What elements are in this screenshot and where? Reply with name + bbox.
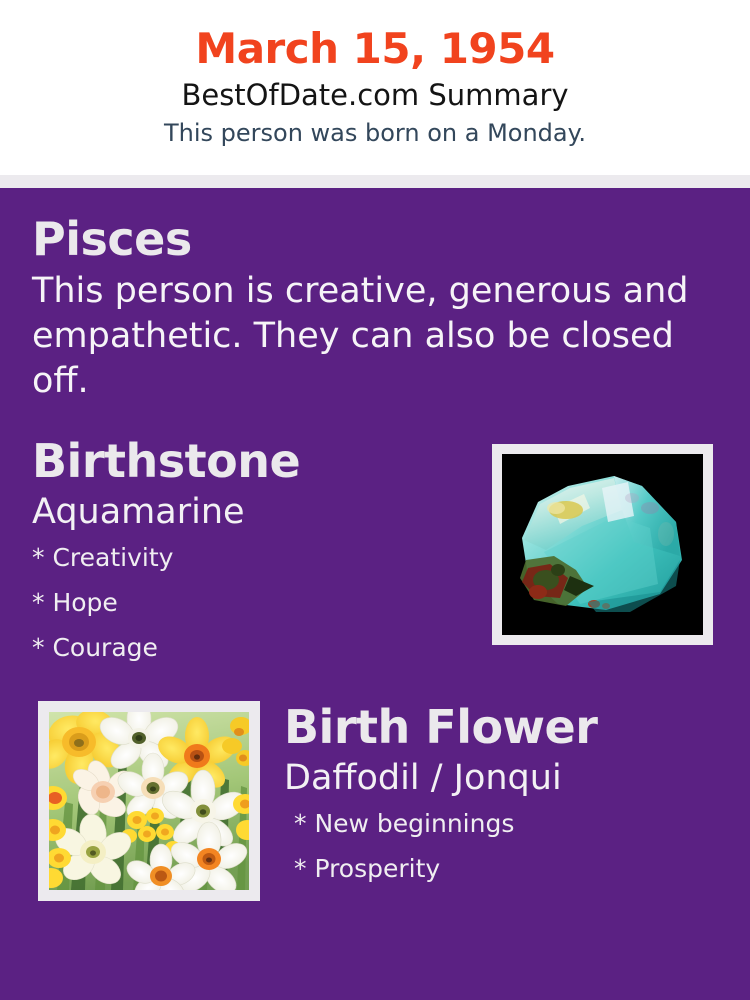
birth-flower-section: Birth Flower Daffodil / Jonqui * New beg…: [32, 698, 718, 908]
birthstone-section: Birthstone Aquamarine * Creativity * Hop…: [32, 432, 718, 670]
birthstone-text-block: Birthstone Aquamarine * Creativity * Hop…: [32, 432, 472, 670]
birth-flower-name: Daffodil / Jonqui: [284, 756, 718, 801]
birthstone-name: Aquamarine: [32, 490, 472, 535]
zodiac-section: Pisces This person is creative, generous…: [32, 188, 718, 404]
zodiac-sign-heading: Pisces: [32, 210, 718, 268]
site-name: BestOfDate.com Summary: [0, 75, 750, 115]
birthstone-heading: Birthstone: [32, 432, 472, 490]
zodiac-description: This person is creative, generous and em…: [32, 269, 712, 404]
list-item: * Prosperity: [284, 846, 718, 891]
aquamarine-crystal-icon: [510, 464, 695, 624]
page-header: March 15, 1954 BestOfDate.com Summary Th…: [0, 0, 750, 175]
born-day-subtitle: This person was born on a Monday.: [0, 116, 750, 150]
list-item: * Courage: [32, 625, 472, 670]
page-title-date: March 15, 1954: [0, 24, 750, 74]
birth-flower-traits-list: * New beginnings * Prosperity: [284, 801, 718, 891]
birthstone-image-frame: [492, 444, 713, 645]
list-item: * Creativity: [32, 535, 472, 580]
header-divider: [0, 175, 750, 188]
birth-flower-image: [49, 712, 249, 890]
birthstone-traits-list: * Creativity * Hope * Courage: [32, 535, 472, 670]
list-item: * Hope: [32, 580, 472, 625]
summary-panel: Pisces This person is creative, generous…: [0, 188, 750, 1000]
birth-flower-heading: Birth Flower: [284, 698, 718, 756]
birthstone-image: [502, 454, 703, 635]
birth-flower-image-frame: [38, 701, 260, 901]
daffodil-flowers-icon: [49, 712, 249, 890]
birth-flower-text-block: Birth Flower Daffodil / Jonqui * New beg…: [284, 698, 718, 891]
list-item: * New beginnings: [284, 801, 718, 846]
